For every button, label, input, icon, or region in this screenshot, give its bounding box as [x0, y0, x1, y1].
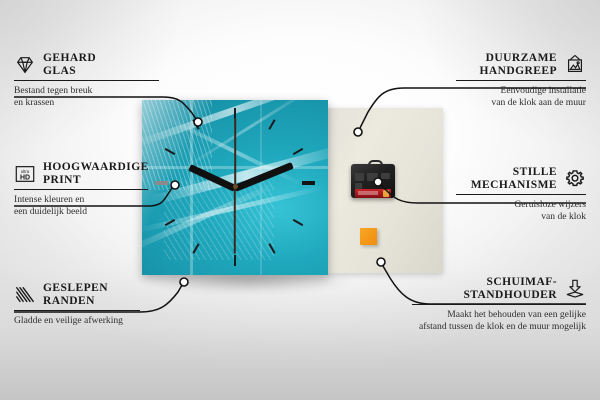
mechanism-detail	[367, 173, 378, 181]
clock-face	[142, 100, 328, 275]
feature-heading: GEHARD GLAS	[14, 52, 159, 77]
clock-tick-3	[302, 181, 315, 185]
feature-description: Geruisloze wijzers van de klok	[456, 199, 586, 222]
feature-description: Bestand tegen breuk en krassen	[14, 85, 159, 108]
framed-picture-icon	[564, 54, 586, 76]
clock-center-pin	[233, 184, 238, 189]
clock-back-panel	[323, 108, 443, 273]
feature-title: GEHARD GLAS	[43, 52, 96, 77]
infographic-canvas: GEHARD GLAS Bestand tegen breuk en krass…	[0, 0, 600, 400]
mechanism-detail	[355, 173, 364, 181]
feature-schuimaf-standhouder: SCHUIMAF- STANDHOUDER Maakt het behouden…	[412, 276, 586, 332]
feature-stille-mechanisme: STILLE MECHANISME Geruisloze wijzers van…	[456, 166, 586, 222]
feature-title: HOOGWAARDIGE PRINT	[43, 161, 149, 186]
feature-underline	[456, 80, 586, 81]
feature-title: SCHUIMAF- STANDHOUDER	[463, 276, 557, 301]
svg-text:HD: HD	[20, 174, 30, 181]
feature-underline	[14, 189, 148, 190]
feature-title: STILLE MECHANISME	[471, 166, 557, 191]
feature-title: DUURZAME HANDGREEP	[479, 52, 557, 77]
foam-spacer-icon	[564, 278, 586, 300]
clock-second-hand-tail	[234, 118, 236, 188]
ground-edges-icon	[14, 284, 36, 306]
feature-underline	[412, 304, 586, 305]
feature-description: Gladde en veilige afwerking	[14, 315, 140, 326]
clock-tick-9	[155, 181, 168, 185]
battery	[355, 189, 391, 198]
feature-heading: GESLEPEN RANDEN	[14, 282, 140, 307]
feature-title: GESLEPEN RANDEN	[43, 282, 108, 307]
clock-tick-1	[268, 119, 275, 130]
product-image	[135, 100, 415, 290]
feature-heading: STILLE MECHANISME	[456, 166, 586, 191]
clock-second-hand	[234, 188, 236, 254]
mechanism-detail	[381, 173, 390, 179]
diamond-icon	[14, 54, 36, 76]
clock-mechanism	[351, 160, 395, 198]
gear-icon	[564, 168, 586, 190]
glass-reflection-line	[260, 100, 262, 275]
mechanism-housing	[351, 164, 395, 198]
feature-hoogwaardige-print: ultra HD HOOGWAARDIGE PRINT Intense kleu…	[14, 161, 148, 217]
clock-tick-4	[293, 219, 304, 226]
feature-heading: DUURZAME HANDGREEP	[456, 52, 586, 77]
clock-tick-6	[234, 255, 236, 266]
feature-gehard-glas: GEHARD GLAS Bestand tegen breuk en krass…	[14, 52, 159, 108]
feature-duurzame-handgreep: DUURZAME HANDGREEP Eenvoudige installati…	[456, 52, 586, 108]
battery-positive-terminal	[383, 190, 389, 197]
feature-description: Eenvoudige installatie van de klok aan d…	[456, 85, 586, 108]
battery-label	[358, 191, 378, 195]
feature-description: Intense kleuren en een duidelijk beeld	[14, 194, 148, 217]
feature-heading: ultra HD HOOGWAARDIGE PRINT	[14, 161, 148, 186]
svg-text:ultra: ultra	[21, 169, 30, 174]
ultra-hd-icon: ultra HD	[14, 163, 36, 185]
feature-underline	[14, 80, 159, 81]
feature-underline	[14, 310, 140, 311]
feature-description: Maakt het behouden van een gelijke afsta…	[412, 309, 586, 332]
feature-geslepen-randen: GESLEPEN RANDEN Gladde en veilige afwerk…	[14, 282, 140, 327]
feature-heading: SCHUIMAF- STANDHOUDER	[412, 276, 586, 301]
glass-reflection-line	[190, 100, 193, 275]
feature-underline	[456, 194, 586, 195]
foam-spacer-pad	[360, 228, 377, 245]
